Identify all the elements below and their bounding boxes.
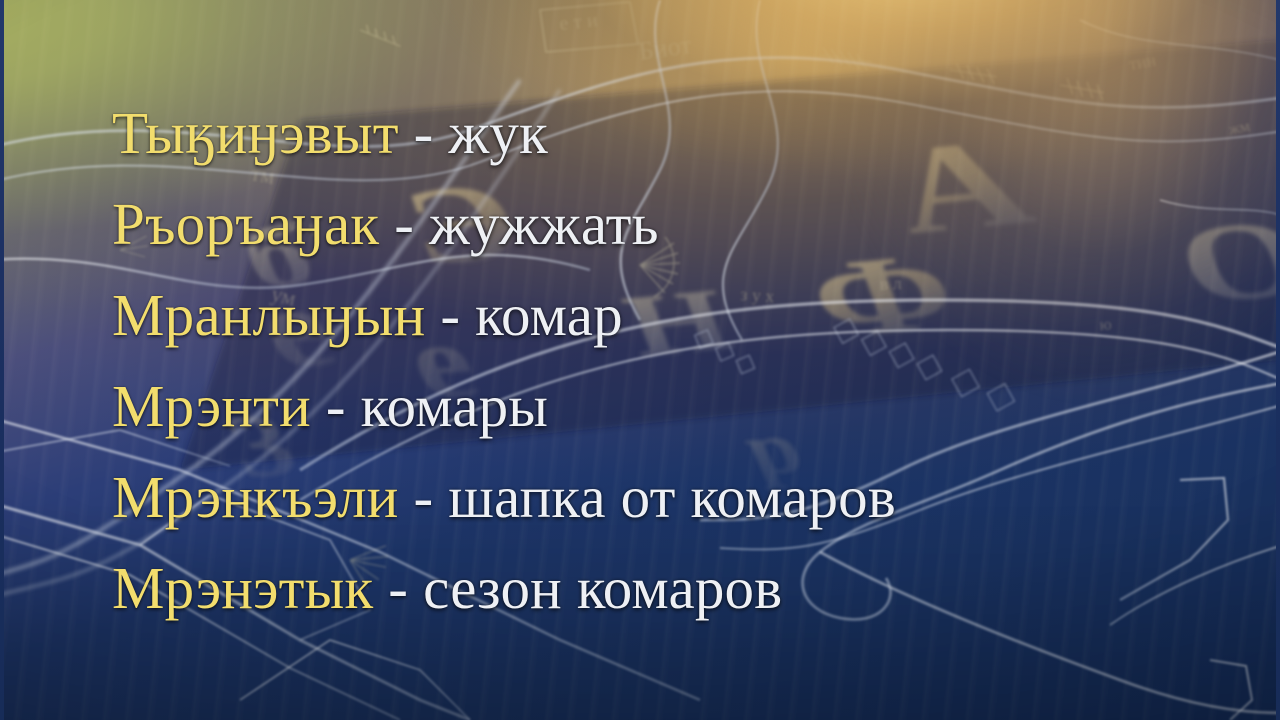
vocabulary-entry: Тыӄиӈэвыт - жук: [112, 88, 1222, 179]
entry-separator: -: [373, 555, 423, 621]
entry-gloss: жужжать: [429, 191, 659, 257]
entry-separator: -: [425, 282, 475, 348]
entry-term: Ръоръаӈак: [112, 191, 379, 257]
entry-separator: -: [399, 464, 449, 530]
entry-gloss: шапка от комаров: [448, 464, 896, 530]
entry-separator: -: [311, 373, 361, 439]
entry-term: Мрэнэтык: [112, 555, 373, 621]
entry-gloss: комар: [475, 282, 623, 348]
entry-term: Тыӄиӈэвыт: [112, 100, 399, 166]
entry-gloss: сезон комаров: [423, 555, 782, 621]
entry-gloss: жук: [448, 100, 548, 166]
vocabulary-entry: Ръоръаӈак - жужжать: [112, 179, 1222, 270]
entry-gloss: комары: [361, 373, 549, 439]
vocabulary-entry: Мрэнэтык - сезон комаров: [112, 543, 1222, 634]
vocabulary-entry: Мранлыӈын - комар: [112, 270, 1222, 361]
vocabulary-list: Тыӄиӈэвыт - жук Ръоръаӈак - жужжать Мран…: [112, 88, 1222, 634]
vocabulary-entry: Мрэнти - комары: [112, 361, 1222, 452]
right-edge-strip: [1276, 0, 1280, 720]
entry-term: Мрэнти: [112, 373, 311, 439]
left-edge-strip: [0, 0, 4, 720]
entry-term: Мрэнкъэли: [112, 464, 399, 530]
entry-separator: -: [379, 191, 429, 257]
entry-separator: -: [399, 100, 449, 166]
vocabulary-slide: А Ф О Н Э б е е З р Биот е т и тм: [0, 0, 1280, 720]
vocabulary-entry: Мрэнкъэли - шапка от комаров: [112, 452, 1222, 543]
entry-term: Мранлыӈын: [112, 282, 425, 348]
